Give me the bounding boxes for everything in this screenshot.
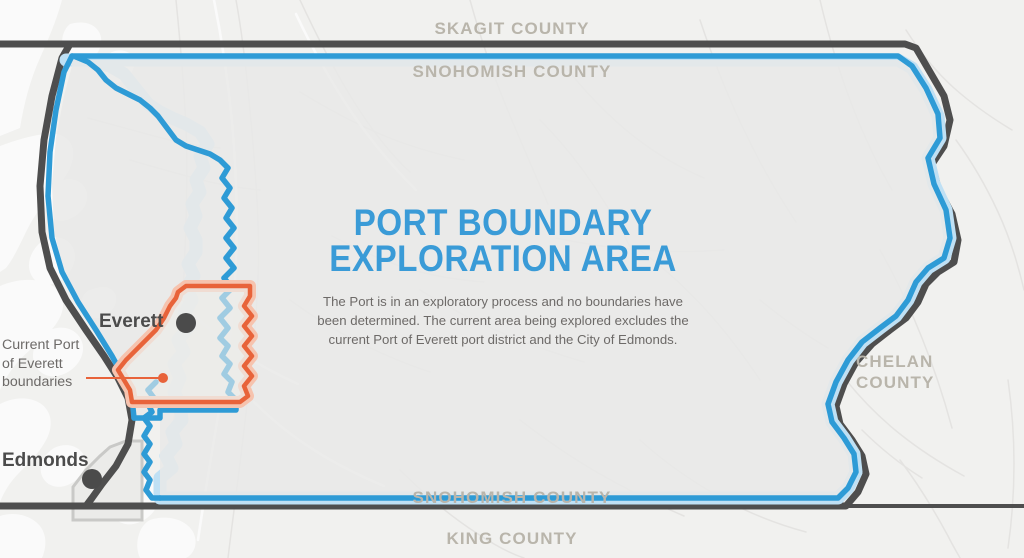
county-label-snohomish-south: SNOHOMISH COUNTY: [0, 487, 1024, 508]
county-label-chelan: CHELAN COUNTY: [856, 351, 1016, 394]
annotation-leader-dot: [158, 373, 168, 383]
edmonds-city-dot: [82, 469, 102, 489]
map-description: The Port is in an exploratory process an…: [316, 292, 690, 350]
everett-city-dot: [176, 313, 196, 333]
county-label-skagit: SKAGIT COUNTY: [0, 18, 1024, 39]
county-label-king: KING COUNTY: [0, 528, 1024, 549]
city-label-everett: Everett: [99, 311, 163, 333]
map-title: PORT BOUNDARY EXPLORATION AREA: [319, 205, 688, 278]
port-boundary-map: SKAGIT COUNTY SNOHOMISH COUNTY SNOHOMISH…: [0, 0, 1024, 558]
annotation-label: Current Port of Everett boundaries: [2, 336, 122, 392]
city-label-edmonds: Edmonds: [2, 450, 89, 472]
title-block: PORT BOUNDARY EXPLORATION AREA The Port …: [298, 205, 708, 349]
annotation-current-port-of-everett: Current Port of Everett boundaries: [2, 336, 122, 392]
county-label-snohomish-north: SNOHOMISH COUNTY: [0, 61, 1024, 82]
